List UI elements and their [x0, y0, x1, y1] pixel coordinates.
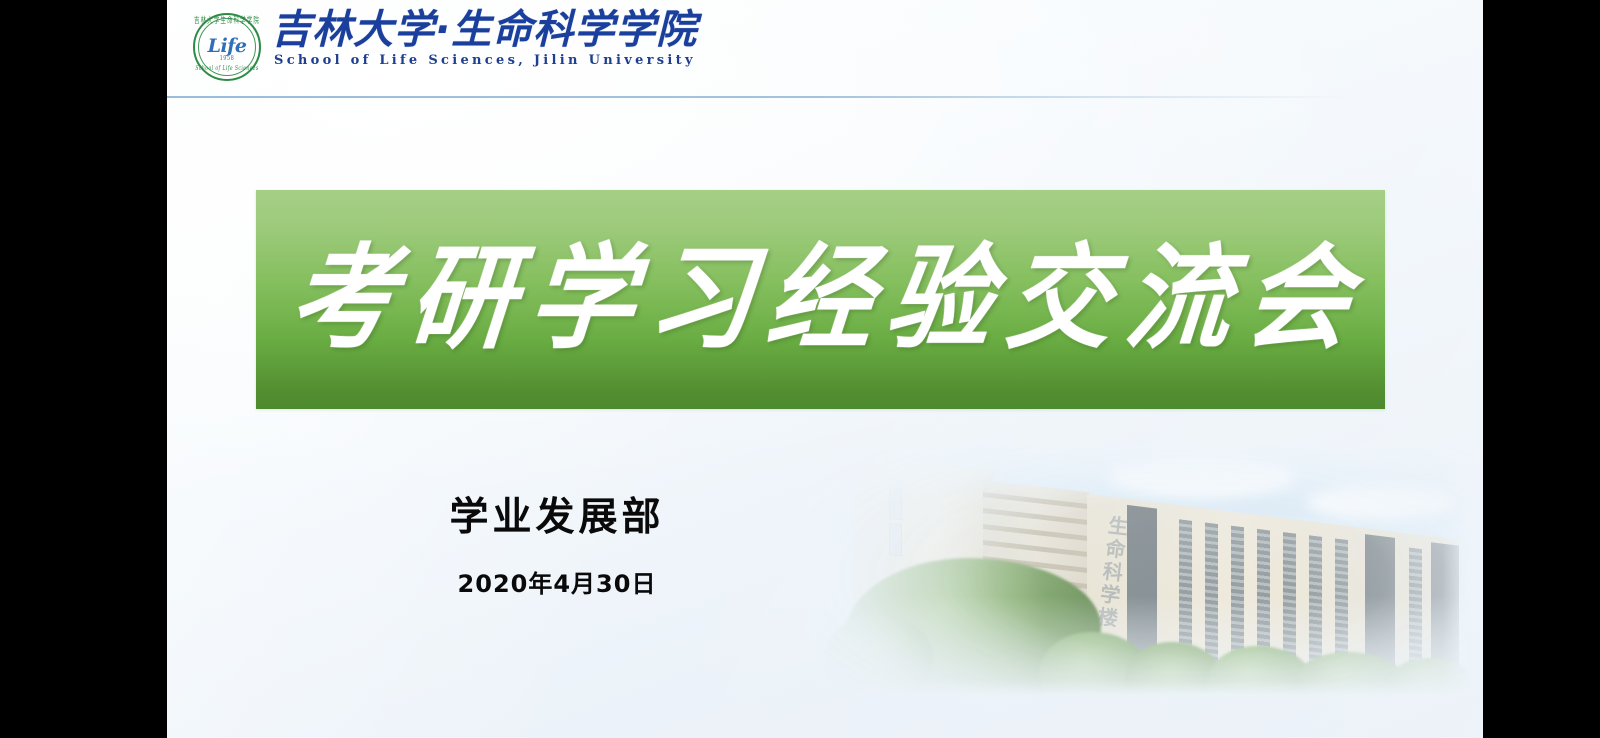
header-divider-rule: [167, 96, 1357, 98]
presenter-organization: 学业发展部: [347, 495, 767, 542]
presentation-date: 2020年4月30日: [347, 570, 767, 599]
title-banner: 考研学习经验交流会: [256, 190, 1385, 409]
brand-name-chinese: 吉林大学·生命科学学院: [271, 10, 697, 52]
emblem-life-script: Life: [191, 37, 263, 56]
brand-name-english: School of Life Sciences, Jilin Universit…: [274, 54, 697, 68]
campus-building-photo: 生命科学楼: [807, 446, 1469, 696]
presenter-block: 学业发展部 2020年4月30日: [347, 495, 767, 599]
photo-fade-overlay: [807, 446, 1469, 696]
presentation-slide: 吉林大学生命科学学院 Life 1958 School of Life Scie…: [167, 0, 1483, 738]
emblem-founding-year: 1958: [191, 56, 263, 63]
university-emblem-icon: 吉林大学生命科学学院 Life 1958 School of Life Scie…: [191, 11, 263, 83]
emblem-arc-bottom-text: School of Life Sciences: [191, 68, 263, 74]
brand-wordmark: 吉林大学·生命科学学院 School of Life Sciences, Jil…: [271, 8, 697, 68]
brand-header: 吉林大学生命科学学院 Life 1958 School of Life Scie…: [191, 8, 697, 94]
slide-title: 考研学习经验交流会: [271, 243, 1369, 356]
screen-letterbox: 吉林大学生命科学学院 Life 1958 School of Life Scie…: [0, 0, 1600, 738]
emblem-arc-top-text: 吉林大学生命科学学院: [191, 19, 263, 27]
